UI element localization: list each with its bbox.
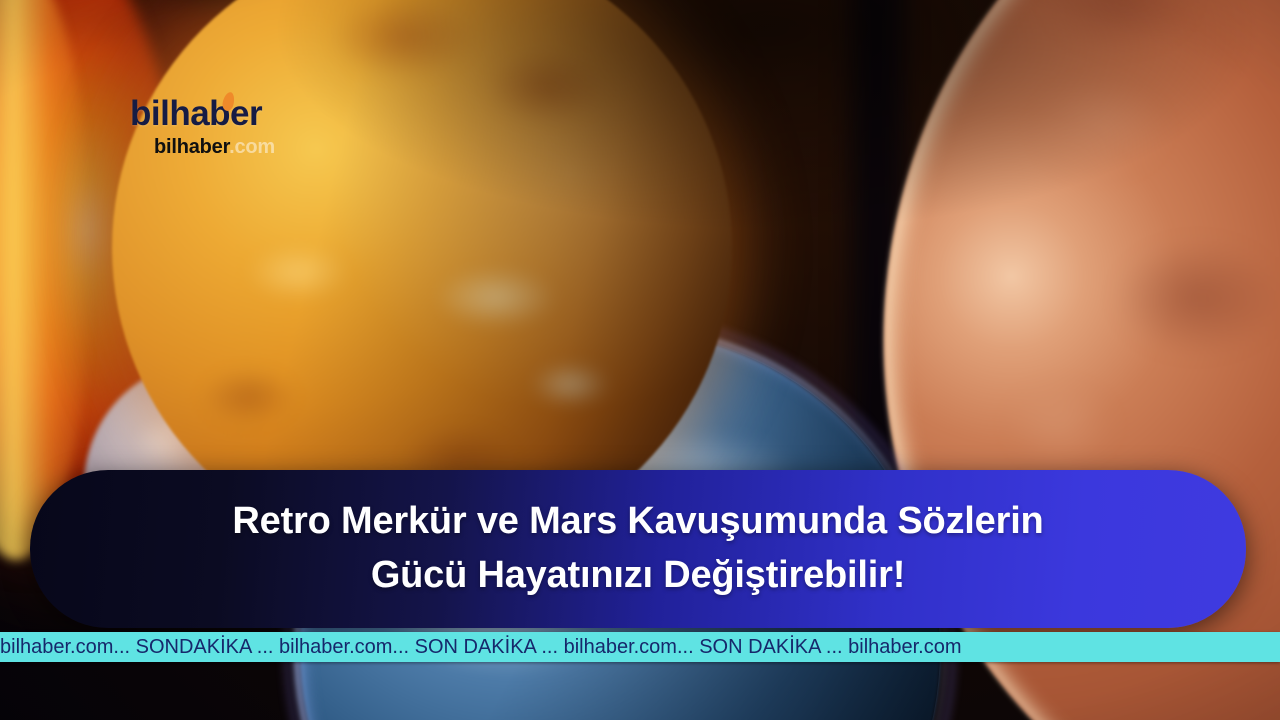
logo-domain-name: bilhaber: [154, 136, 229, 158]
breaking-news-ticker[interactable]: bilhaber.com... SONDAKİKA ... bilhaber.c…: [0, 632, 1280, 662]
logo-wordmark-text: bilhaber: [130, 94, 262, 133]
headline-banner[interactable]: Retro Merkür ve Mars Kavuşumunda Sözleri…: [30, 470, 1246, 628]
logo-wordmark: bilhaber: [130, 96, 320, 131]
headline-line-2: Gücü Hayatınızı Değiştirebilir!: [371, 549, 905, 603]
ticker-text: bilhaber.com... SONDAKİKA ... bilhaber.c…: [0, 637, 962, 657]
logo-domain-tld: .com: [229, 136, 275, 158]
news-thumbnail-card: bilhaber bilhaber.com Retro Merkür ve Ma…: [0, 0, 1280, 720]
headline-line-1: Retro Merkür ve Mars Kavuşumunda Sözleri…: [232, 495, 1043, 549]
logo-domain: bilhaber.com: [154, 137, 320, 157]
site-logo-watermark[interactable]: bilhaber bilhaber.com: [130, 96, 320, 157]
